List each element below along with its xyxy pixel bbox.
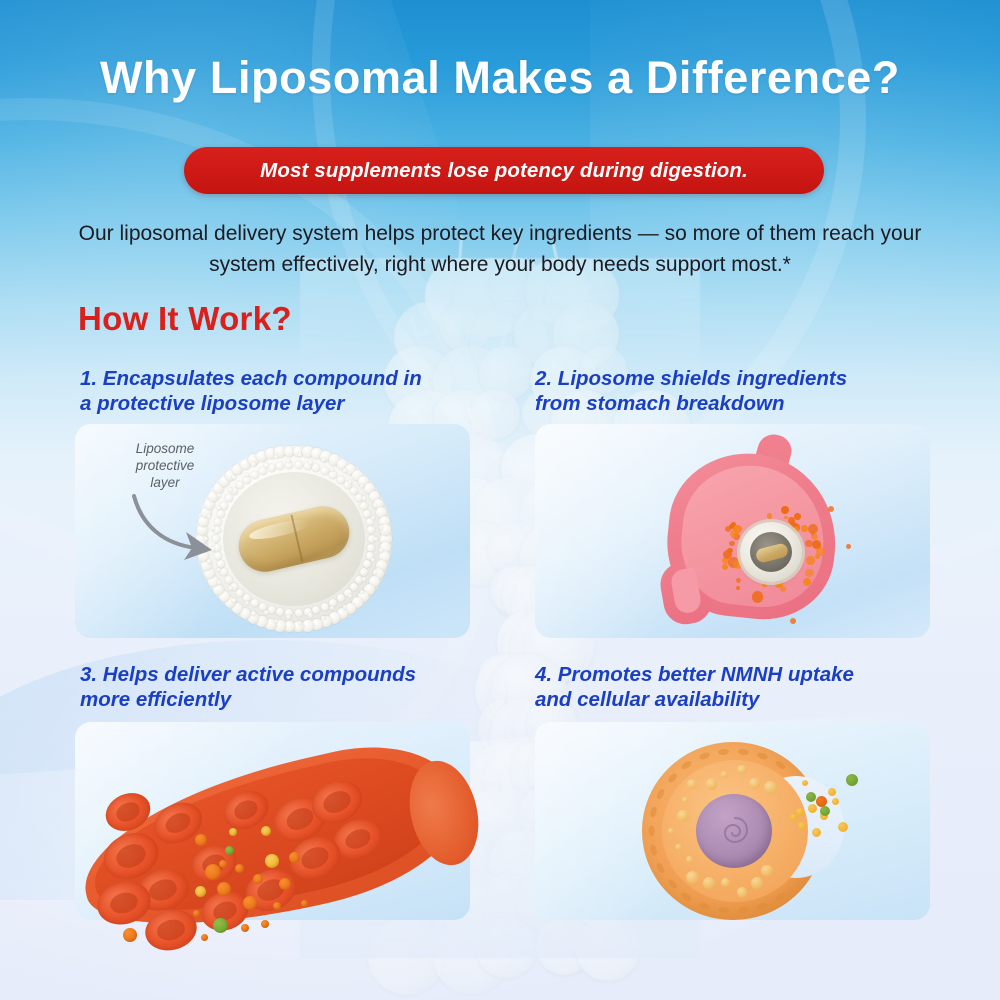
page-title: Why Liposomal Makes a Difference? — [0, 52, 1000, 104]
annotation-line-2: protective — [104, 457, 226, 474]
step-4-line-2: and cellular availability — [535, 687, 935, 712]
annotation-line-3: layer — [104, 474, 226, 491]
step-4-line-1: 4. Promotes better NMNH uptake — [535, 662, 935, 687]
capsule-highlight — [248, 516, 312, 542]
callout-banner: Most supplements lose potency during dig… — [184, 147, 824, 194]
step-4-caption: 4. Promotes better NMNH uptake and cellu… — [535, 662, 935, 712]
cell-illustration — [600, 736, 930, 926]
step-1-line-2: a protective liposome layer — [80, 391, 510, 416]
step-1-line-1: 1. Encapsulates each compound in — [80, 366, 510, 391]
step-3-line-1: 3. Helps deliver active compounds — [80, 662, 510, 687]
intro-paragraph: Our liposomal delivery system helps prot… — [50, 218, 950, 280]
nucleus-spiral-icon — [718, 814, 752, 846]
stomach-illustration — [640, 436, 890, 636]
callout-banner-text: Most supplements lose potency during dig… — [260, 159, 748, 183]
step-2-line-2: from stomach breakdown — [535, 391, 935, 416]
step-2-line-1: 2. Liposome shields ingredients — [535, 366, 935, 391]
step-3-caption: 3. Helps deliver active compounds more e… — [80, 662, 510, 712]
annotation-arrow-icon — [128, 492, 238, 564]
step-1-caption: 1. Encapsulates each compound in a prote… — [80, 366, 510, 416]
step-3-line-2: more efficiently — [80, 687, 510, 712]
infographic-canvas: Why Liposomal Makes a Difference? Most s… — [0, 0, 1000, 1000]
annotation-line-1: Liposome — [104, 440, 226, 457]
step-2-caption: 2. Liposome shields ingredients from sto… — [535, 366, 935, 416]
liposome-annotation-label: Liposome protective layer — [104, 440, 226, 491]
section-title: How It Work? — [78, 300, 292, 338]
blood-vessel-illustration — [75, 742, 475, 920]
